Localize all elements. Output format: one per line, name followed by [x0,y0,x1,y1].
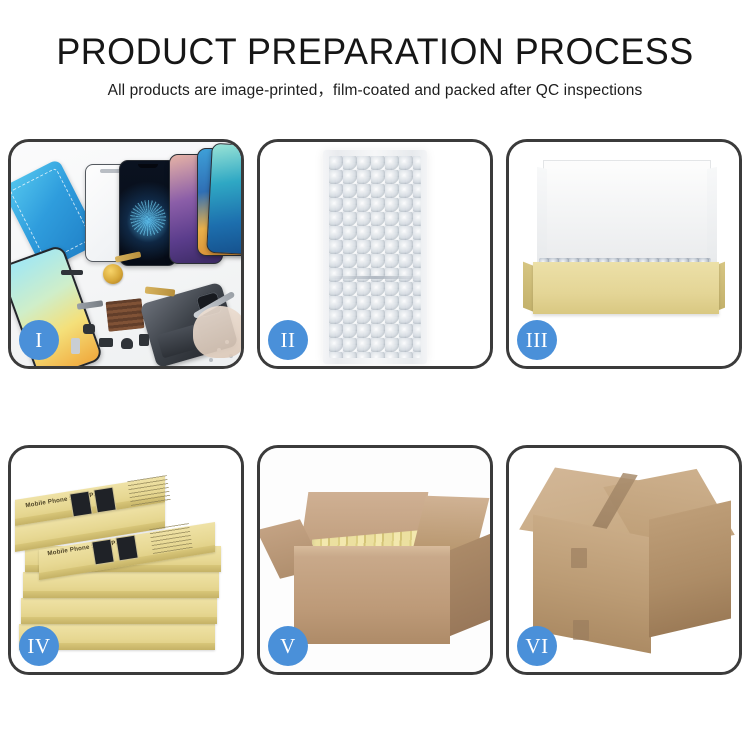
box-lid-icon [543,160,711,270]
product-thumbnail [91,539,115,566]
pouch-seam [329,276,421,279]
phone-teal-icon [206,143,241,255]
sealed-carton-right-face [649,501,731,638]
page-subtitle: All products are image-printed，film-coat… [0,81,750,101]
step-badge-3: III [517,320,557,360]
process-step-panel-3: III [506,139,742,369]
chip-icon [139,334,149,346]
page-title: PRODUCT PREPARATION PROCESS [11,30,739,74]
carton-front-face [294,556,450,644]
process-step-panel-2: II [257,139,493,369]
bubble-wrap-pouch-icon [323,150,427,364]
chip-icon [61,270,83,275]
product-preparation-infographic: PRODUCT PREPARATION PROCESS All products… [0,0,750,750]
carton-side-face [450,534,490,636]
product-thumbnail [69,491,93,518]
process-step-panel-6: VI [506,445,742,675]
bubble-texture [329,156,421,358]
speaker-coil-icon [103,264,123,284]
circuit-board-icon [106,298,145,332]
carton-seal-mark [571,548,587,568]
chip-icon [121,338,133,349]
hand-icon [193,306,241,358]
connector-icon [71,338,80,354]
step-badge-6: VI [517,626,557,666]
process-step-panel-5: V [257,445,493,675]
step-badge-5: V [268,626,308,666]
chip-icon [99,338,113,347]
step-badge-1: I [19,320,59,360]
carton-seal-mark [573,620,589,640]
step-badge-4: IV [19,626,59,666]
retail-box [21,598,217,624]
process-step-panel-4: Mobile Phone Spare Parts Mobile Phone Sp… [8,445,244,675]
screw-icon [209,358,213,362]
product-thumbnail [115,535,139,562]
product-thumbnail [93,487,117,514]
process-step-grid: I II III [8,139,742,675]
box-tray-icon [533,262,719,314]
header: PRODUCT PREPARATION PROCESS All products… [0,30,750,101]
process-step-panel-1: I [8,139,244,369]
step-badge-2: II [268,320,308,360]
chip-icon [83,324,95,334]
